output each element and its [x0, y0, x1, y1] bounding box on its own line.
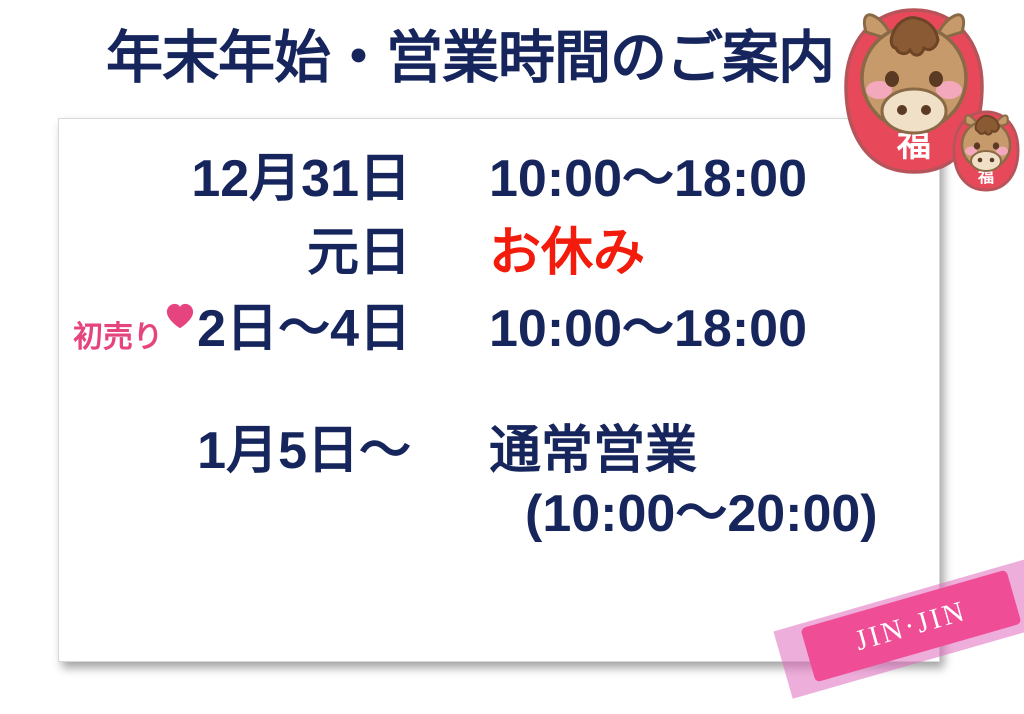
table-row: 元日 お休み [59, 223, 941, 283]
schedule-hours-detail: (10:00〜20:00) [489, 481, 941, 547]
schedule-hours-cell: 10:00〜18:00 [411, 299, 941, 359]
table-row: 初売り 2日〜4日 10:00〜18:00 [59, 299, 941, 359]
schedule-hours-cell: お休み [411, 223, 941, 283]
schedule-date-label: 12月31日 [191, 150, 411, 208]
schedule-date-cell: 12月31日 [59, 149, 411, 209]
schedule-date-label: 元日 [307, 224, 411, 282]
schedule-date-cell: 1月5日〜 [59, 421, 411, 481]
heart-icon [165, 301, 195, 331]
schedule-hours-label: 10:00〜18:00 [489, 300, 807, 358]
hatsuuri-badge: 初売り [73, 321, 163, 355]
brand-band-inner: JIN·JIN [800, 570, 1021, 683]
schedule-hours-label: 10:00〜18:00 [489, 150, 807, 208]
status-badge-closed: お休み [489, 224, 645, 282]
schedule-date-cell: 初売り 2日〜4日 [59, 299, 411, 359]
schedule-date-cell: 元日 [59, 223, 411, 283]
schedule-hours-label: 通常営業 [489, 422, 697, 480]
table-row: 12月31日 10:00〜18:00 [59, 149, 941, 209]
schedule-date-label: 2日〜4日 [197, 300, 411, 358]
page-title: 年末年始・営業時間のご案内 [0, 26, 940, 90]
poster-canvas: 年末年始・営業時間のご案内 12月31日 10:00〜18:00 元日 お休み [0, 0, 1024, 714]
schedule-date-label: 1月5日〜 [197, 422, 411, 480]
schedule-hours-cell: 通常営業 (10:00〜20:00) [411, 421, 941, 547]
horse-daruma-icon: 福 福 [826, 4, 1024, 200]
brand-logo: JIN·JIN [776, 548, 1024, 714]
table-row: 1月5日〜 通常営業 (10:00〜20:00) [59, 421, 941, 547]
